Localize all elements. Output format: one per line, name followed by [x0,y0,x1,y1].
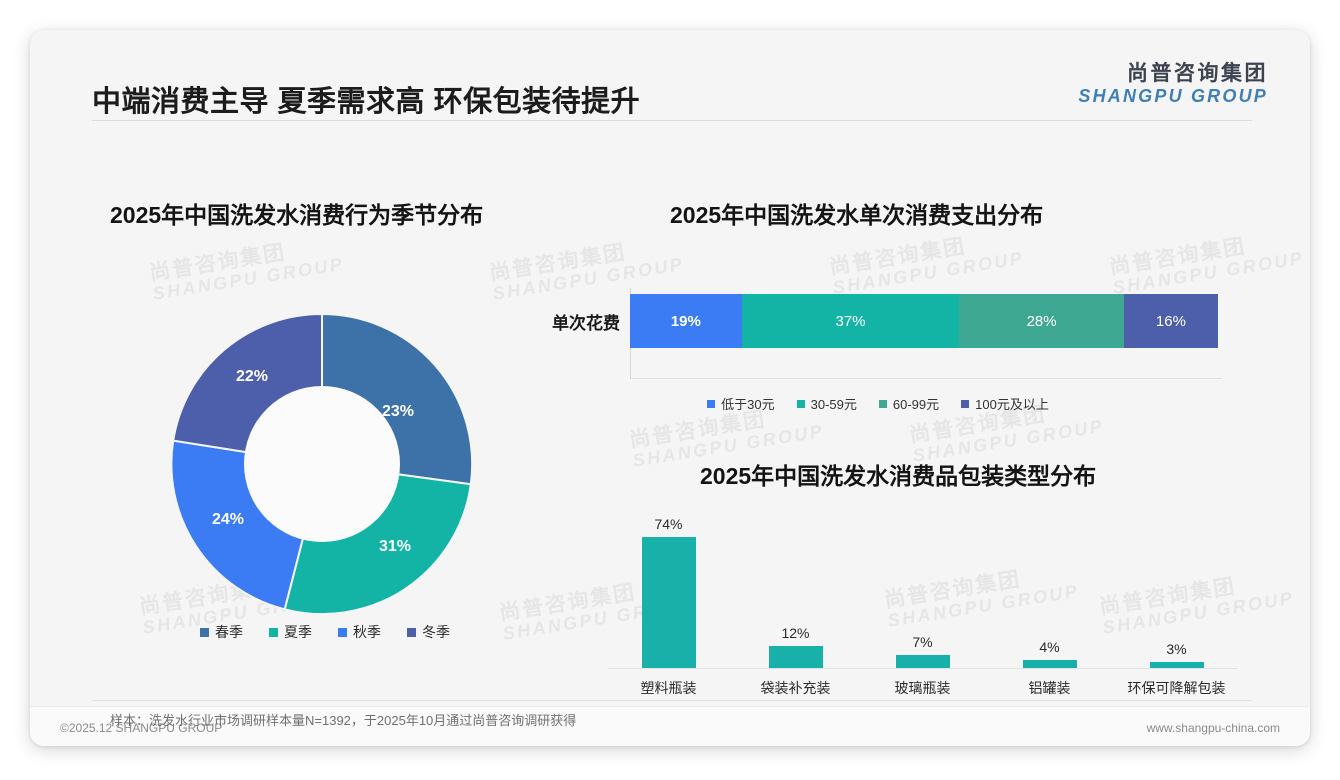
logo-text-en: SHANGPU GROUP [1078,86,1268,106]
legend-swatch-icon [200,628,209,637]
bar-category-label: 环保可降解包装 [1113,678,1240,698]
bar-rect[interactable] [642,537,696,668]
donut-legend-label: 秋季 [353,622,381,642]
bar-category-label: 铝罐装 [986,678,1113,698]
donut-legend: 春季 夏季 秋季 冬季 [160,622,490,642]
stacked-category-label: 单次花费 [528,309,630,334]
stacked-bar-chart: 单次花费 19% 37% 28% 16% [528,288,1228,388]
watermark-cn: 尚普咨询集团 [488,233,683,285]
stacked-segment-100plus[interactable]: 16% [1124,294,1218,348]
bar-category-label: 塑料瓶装 [605,678,732,698]
stacked-legend-item-60-99[interactable]: 60-99元 [879,394,939,413]
bar-column[interactable]: 12% [732,510,859,668]
legend-swatch-icon [269,628,278,637]
bar-value-label: 3% [1166,641,1186,657]
watermark-cn: 尚普咨询集团 [1108,227,1303,279]
stacked-legend: 低于30元 30-59元 60-99元 100元及以上 [528,394,1228,413]
bar-column[interactable]: 4% [986,510,1113,668]
stacked-chart-title: 2025年中国洗发水单次消费支出分布 [670,196,1043,230]
donut-legend-label: 冬季 [422,622,450,642]
legend-swatch-icon [961,400,969,408]
logo-text-cn: 尚普咨询集团 [1078,62,1268,86]
donut-chart: 23% 31% 24% 22% [160,302,484,626]
stacked-legend-item-under30[interactable]: 低于30元 [707,394,774,413]
stacked-legend-label: 100元及以上 [975,394,1049,413]
bar-rect[interactable] [1023,660,1077,668]
bar-value-label: 4% [1039,639,1059,655]
legend-swatch-icon [338,628,347,637]
slide-page: 尚普咨询集团SHANGPU GROUP 尚普咨询集团SHANGPU GROUP … [0,0,1340,780]
sample-footnote: 样本：洗发水行业市场调研样本量N=1392，于2025年10月通过尚普咨询调研获… [110,710,576,729]
donut-label-autumn: 24% [212,511,244,528]
stacked-segment-30-59[interactable]: 37% [742,294,960,348]
watermark-en: SHANGPU GROUP [151,255,345,304]
slide-header: 中端消费主导 夏季需求高 环保包装待提升 尚普咨询集团 SHANGPU GROU… [30,30,1310,112]
bar-rect[interactable] [896,655,950,668]
footer-website[interactable]: www.shangpu-china.com [1147,721,1280,735]
slide-canvas: 尚普咨询集团SHANGPU GROUP 尚普咨询集团SHANGPU GROUP … [30,30,1310,746]
legend-swatch-icon [879,400,887,408]
brand-logo: 尚普咨询集团 SHANGPU GROUP [1078,62,1268,106]
bar-category-axis: 塑料瓶装 袋装补充装 玻璃瓶装 铝罐装 环保可降解包装 [605,678,1240,698]
donut-legend-item-summer[interactable]: 夏季 [269,622,312,642]
donut-svg: 23% 31% 24% 22% [160,302,484,626]
donut-legend-label: 夏季 [284,622,312,642]
donut-legend-item-winter[interactable]: 冬季 [407,622,450,642]
page-title: 中端消费主导 夏季需求高 环保包装待提升 [92,78,640,120]
stacked-legend-label: 低于30元 [721,394,774,413]
header-divider [92,120,1252,121]
legend-swatch-icon [797,400,805,408]
watermark-cn: 尚普咨询集团 [148,233,343,285]
stacked-segment-under30[interactable]: 19% [630,294,742,348]
stacked-legend-label: 60-99元 [893,394,939,413]
donut-legend-item-spring[interactable]: 春季 [200,622,243,642]
bar-value-label: 74% [654,516,682,532]
donut-hole [244,386,400,542]
bar-category-label: 袋装补充装 [732,678,859,698]
donut-label-winter: 22% [236,368,268,385]
bar-column[interactable]: 74% [605,510,732,668]
stacked-legend-item-30-59[interactable]: 30-59元 [797,394,857,413]
stacked-bar-row: 单次花费 19% 37% 28% 16% [528,294,1228,348]
bar-value-label: 7% [912,634,932,650]
bar-rect[interactable] [769,646,823,668]
legend-swatch-icon [707,400,715,408]
stacked-legend-item-100plus[interactable]: 100元及以上 [961,394,1049,413]
package-type-bar-chart: 74% 12% 7% 4% 3% [605,510,1240,710]
footnote-divider [92,700,1252,701]
bar-category-label: 玻璃瓶装 [859,678,986,698]
watermark-cn: 尚普咨询集团 [828,227,1023,279]
donut-legend-item-autumn[interactable]: 秋季 [338,622,381,642]
donut-legend-label: 春季 [215,622,243,642]
donut-chart-title: 2025年中国洗发水消费行为季节分布 [110,196,483,230]
bar-column[interactable]: 3% [1113,510,1240,668]
stacked-bar-track: 19% 37% 28% 16% [630,294,1218,348]
stacked-baseline [630,378,1222,379]
bar-chart-title: 2025年中国洗发水消费品包装类型分布 [700,457,1096,491]
donut-label-spring: 23% [382,403,414,420]
donut-label-summer: 31% [379,538,411,555]
stacked-segment-60-99[interactable]: 28% [959,294,1124,348]
bar-plot-area: 74% 12% 7% 4% 3% [605,510,1240,668]
stacked-legend-label: 30-59元 [811,394,857,413]
bar-baseline [608,668,1237,669]
bar-column[interactable]: 7% [859,510,986,668]
bar-value-label: 12% [781,625,809,641]
legend-swatch-icon [407,628,416,637]
